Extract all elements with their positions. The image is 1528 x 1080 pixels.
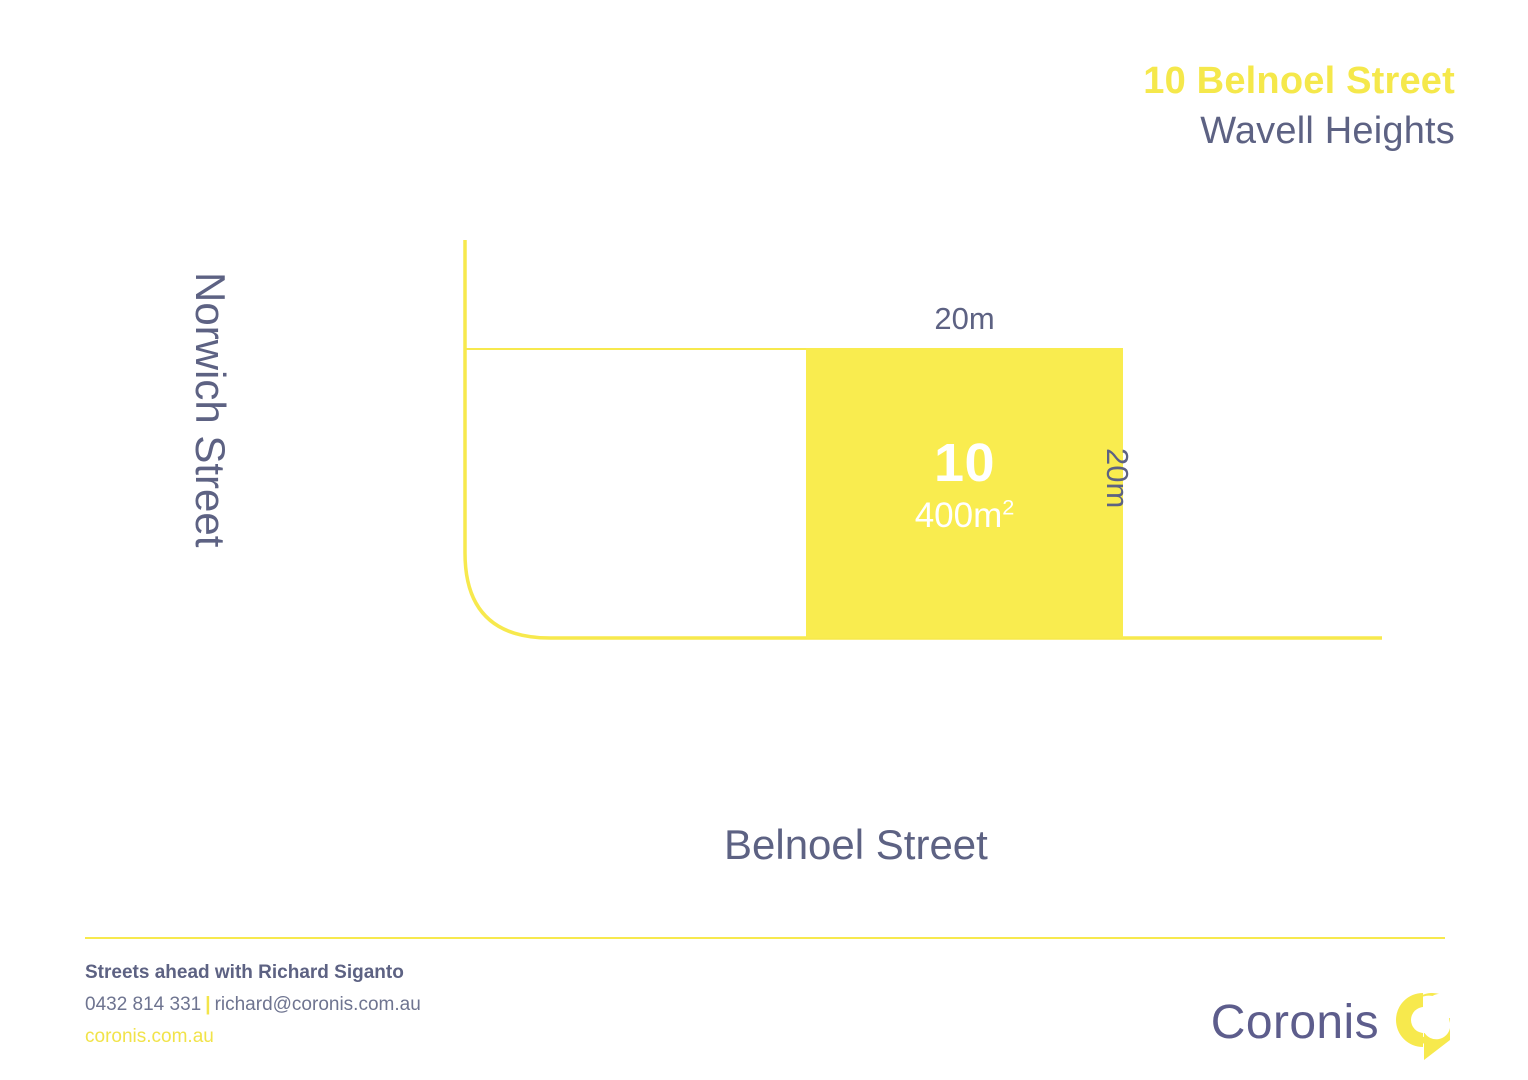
footer-contact-line: 0432 814 331|richard@coronis.com.au (85, 993, 1085, 1018)
footer-tagline: Streets ahead with Richard Siganto (85, 962, 1085, 985)
street-label-belnoel: Belnoel Street (724, 824, 988, 866)
lot-area-label: 400m2 (806, 498, 1123, 533)
lot-area-value: 400m (915, 496, 1003, 535)
site-plan-page: 10 Belnoel Street Wavell Heights 10 400m… (0, 0, 1528, 1080)
site-plan-diagram: 10 400m2 20m 20m Norwich Street Belnoel … (0, 0, 1528, 920)
footer-separator: | (201, 994, 214, 1015)
dimension-label-right: 20m (1102, 448, 1133, 508)
coronis-logo[interactable]: Coronis (1211, 985, 1455, 1061)
lot-block-10[interactable]: 10 400m2 (806, 348, 1123, 638)
lot-number-label: 10 (806, 436, 1123, 490)
lot-label-group: 10 400m2 (806, 436, 1123, 533)
dimension-label-top: 20m (806, 303, 1123, 334)
logo-wordmark: Coronis (1211, 999, 1379, 1047)
lot-area-superscript: 2 (1002, 494, 1014, 519)
footer-divider (85, 937, 1445, 939)
footer-website-link[interactable]: coronis.com.au (85, 1025, 1085, 1050)
footer-contact-block: Streets ahead with Richard Siganto 0432 … (85, 962, 1085, 1050)
footer-phone[interactable]: 0432 814 331 (85, 994, 201, 1015)
footer-email[interactable]: richard@coronis.com.au (215, 994, 421, 1015)
street-label-norwich: Norwich Street (189, 272, 231, 547)
coronis-c-pin-icon (1393, 985, 1455, 1061)
